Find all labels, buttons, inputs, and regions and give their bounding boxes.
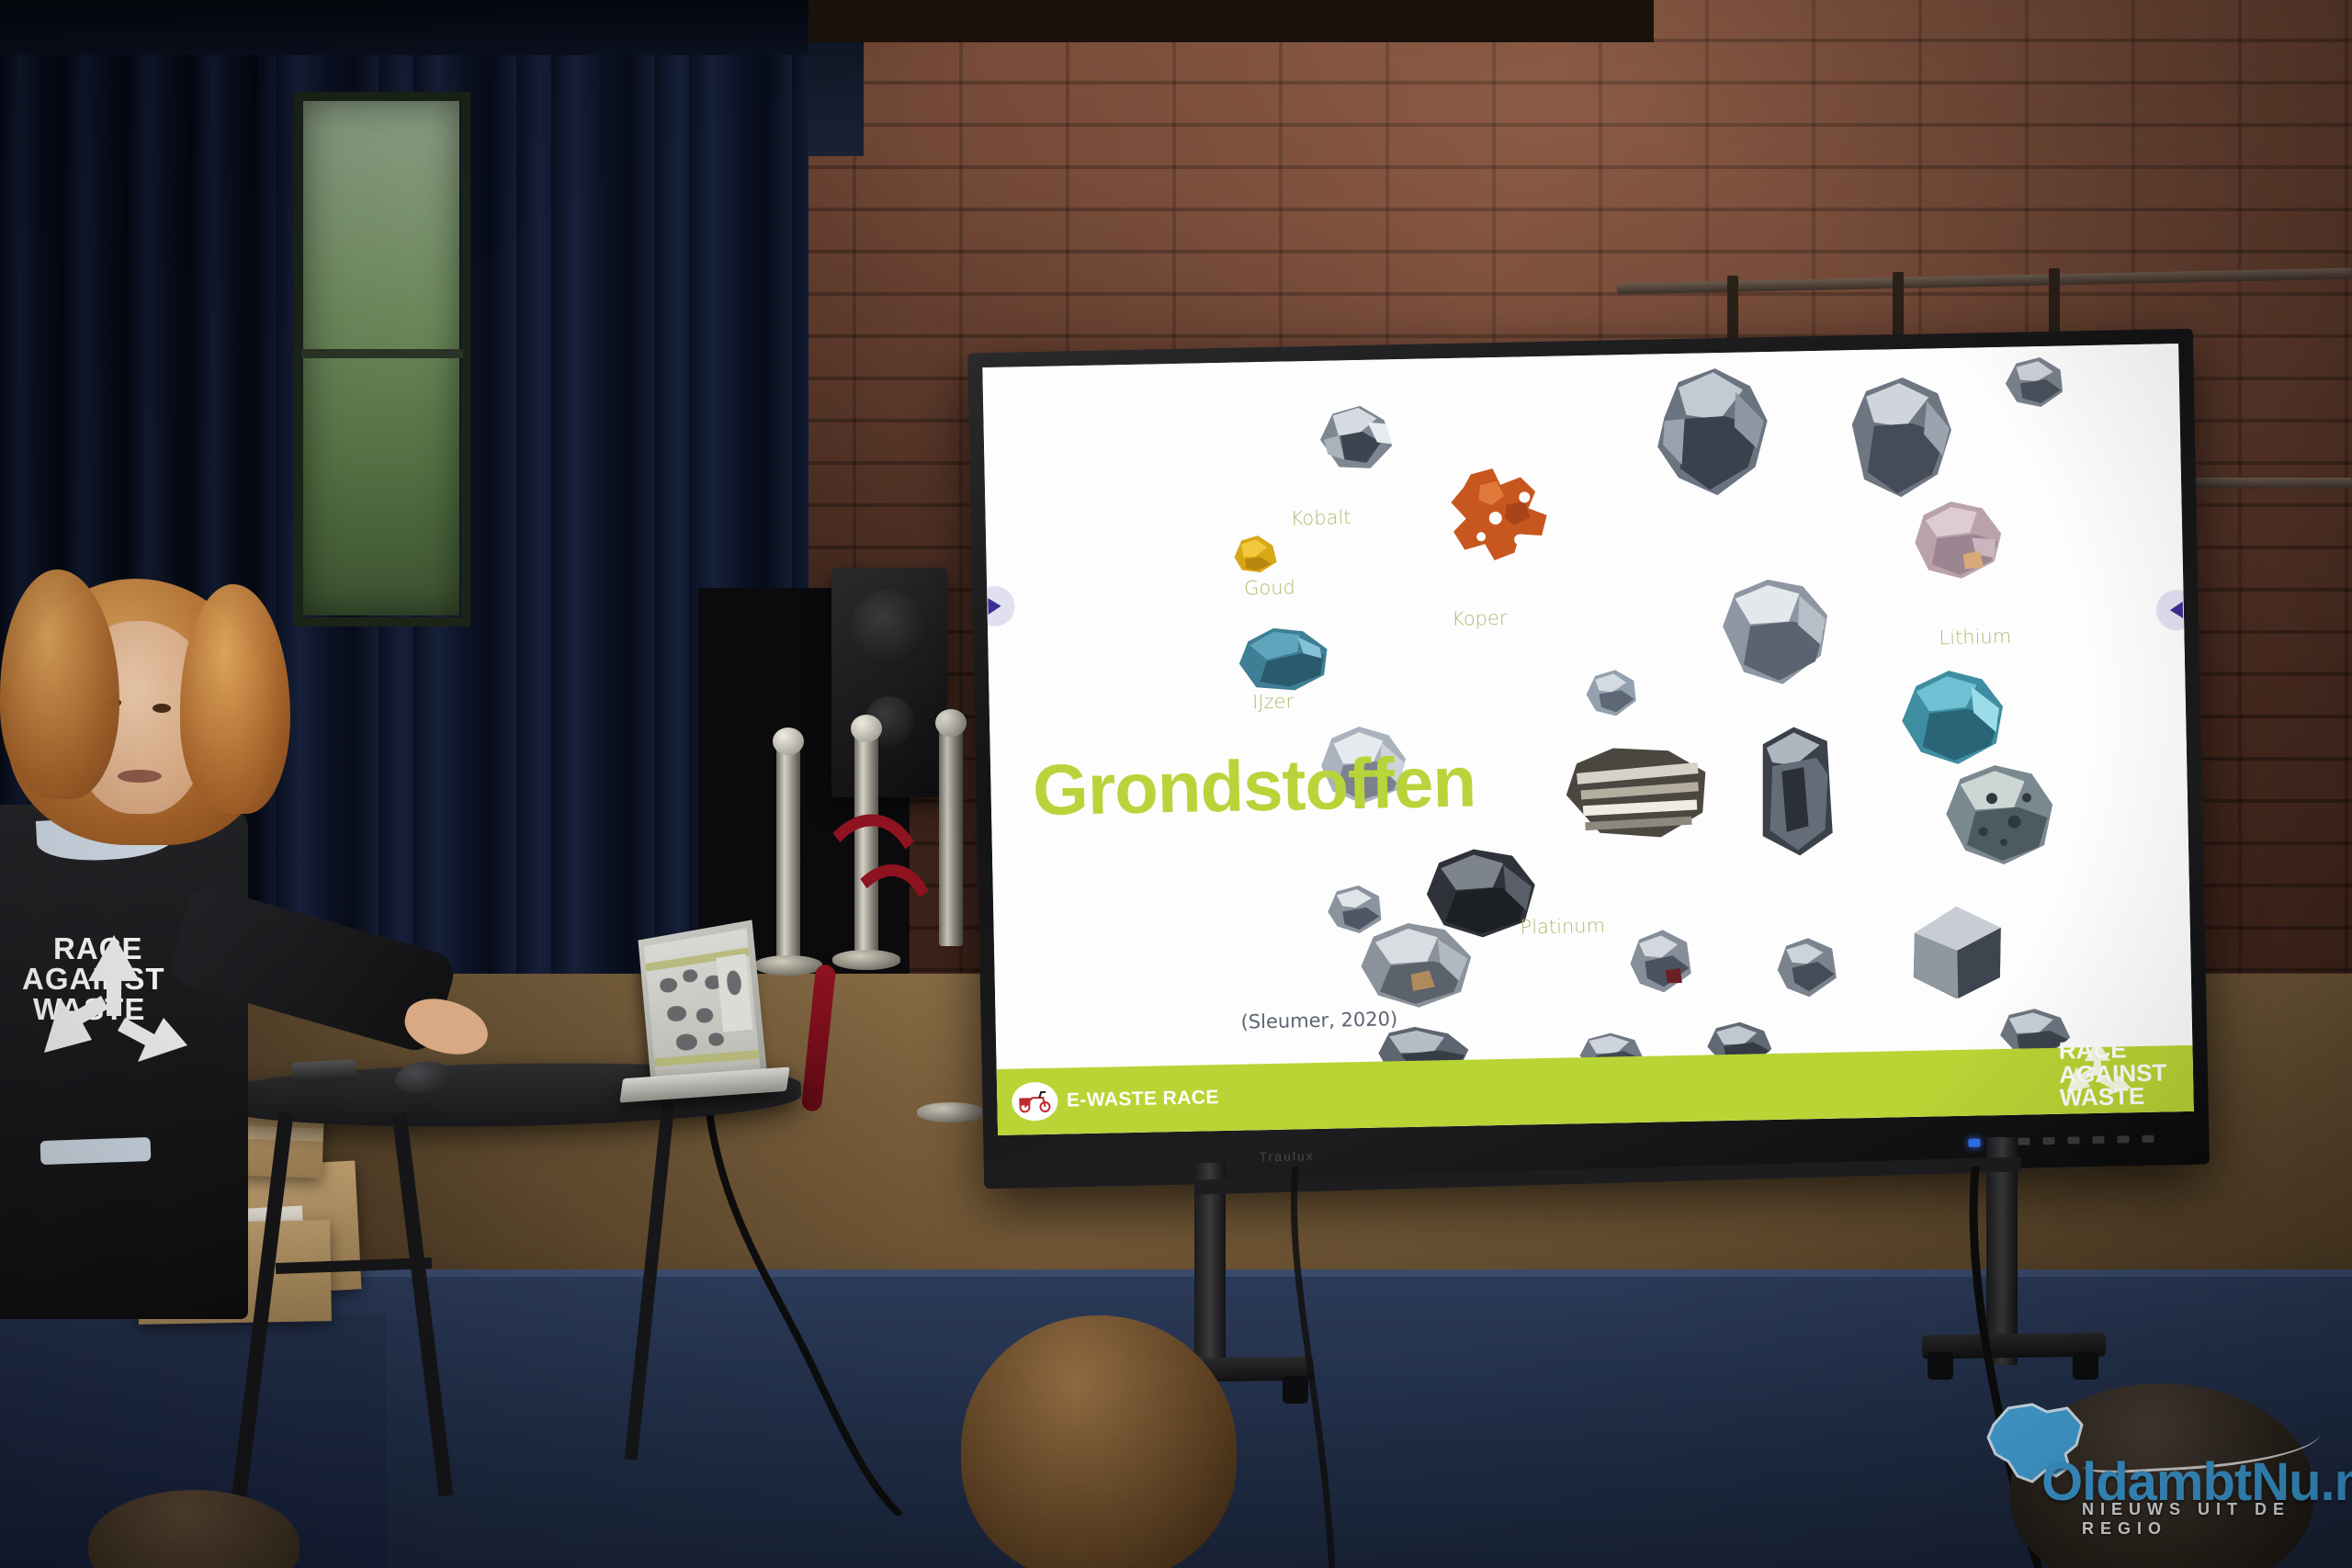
display-button-4[interactable]: [2067, 1136, 2079, 1144]
audience-head-center: [961, 1315, 1237, 1568]
mineral-layered-center: [1558, 740, 1716, 846]
presenter: RACE AGAINST WASTE: [0, 570, 570, 1568]
mineral-koper: [1439, 464, 1560, 581]
presenter-mouth: [118, 770, 162, 783]
laptop-mineral-thumb-1: [660, 976, 678, 993]
presentation-slide: Grondstoffen Kobalt Goud Koper IJzer Lit…: [982, 344, 2194, 1135]
display-button-2[interactable]: [2018, 1137, 2030, 1145]
display-button-5[interactable]: [2092, 1136, 2104, 1144]
mineral-teal-right: [1892, 666, 2011, 772]
speaker-cone-large: [851, 590, 928, 667]
photo-scene: Grondstoffen Kobalt Goud Koper IJzer Lit…: [0, 0, 2352, 1568]
mineral-platinum: [1352, 919, 1479, 1015]
shirt-line-1: RACE: [53, 933, 165, 964]
mineral-grey-top-right: [1838, 375, 1959, 506]
window-mullion: [301, 349, 463, 358]
laptop-mineral-thumb-4: [667, 1005, 687, 1022]
loudspeaker: [831, 568, 947, 797]
shirt-line-2: AGAINST: [22, 964, 165, 994]
slide-citation: (Sleumer, 2020): [1240, 1009, 1397, 1033]
mineral-label-lithium: Lithium: [1939, 625, 2011, 649]
presenter-laptop-lid[interactable]: [638, 919, 768, 1094]
laptop-mineral-thumb-5: [695, 1007, 714, 1023]
mineral-goud: [1228, 533, 1281, 576]
barrier-post-cap-2: [851, 715, 882, 742]
barrier-post-3: [939, 726, 963, 946]
laptop-mineral-thumb-6: [675, 1033, 697, 1052]
barrier-post-cap-3: [935, 709, 967, 737]
mineral-speckled-right: [1936, 761, 2061, 872]
mineral-kobalt: [1312, 401, 1398, 475]
laptop-mineral-thumb-2: [683, 968, 698, 983]
presenter-hair-side: [180, 584, 290, 814]
slide-next-button[interactable]: [2155, 589, 2193, 630]
mineral-dark-column: [1749, 723, 1840, 861]
display-button-6[interactable]: [2117, 1135, 2129, 1143]
shirt-line-3: WASTE: [33, 994, 165, 1024]
display-button-7[interactable]: [2142, 1135, 2154, 1143]
play-triangle-right-icon: [988, 598, 1001, 615]
watermark-tagline: NIEUWS UIT DE REGIO: [2082, 1500, 2330, 1539]
play-triangle-left-icon: [2170, 602, 2183, 618]
presenter-shirt-logo: RACE AGAINST WASTE: [20, 933, 165, 1024]
race-against-waste-logo: RACE AGAINST WASTE: [2059, 1038, 2168, 1111]
slide-prev-button[interactable]: [982, 586, 1015, 627]
laptop-slide-band-bottom: [654, 1050, 759, 1066]
mineral-label-platinum: Platinum: [1520, 914, 1605, 938]
presenter-eye-right: [153, 704, 171, 713]
display-button-3[interactable]: [2042, 1137, 2054, 1145]
presenter-hand: [400, 992, 494, 1063]
mineral-small-center: [1580, 665, 1642, 719]
mineral-cube-bottom-right: [1903, 900, 2011, 1005]
display-screen[interactable]: Grondstoffen Kobalt Goud Koper IJzer Lit…: [982, 344, 2194, 1135]
barrier-post-cap-1: [773, 728, 804, 755]
mineral-lithium: [1906, 497, 2007, 583]
mineral-label-koper: Koper: [1452, 606, 1508, 629]
mineral-grey-mid: [1711, 573, 1838, 692]
mineral-small-bottom-1: [1622, 925, 1699, 998]
mineral-label-ijzer: IJzer: [1252, 690, 1294, 713]
watermark: OldambtNu.nl NIEUWS UIT DE REGIO: [1981, 1416, 2330, 1553]
display-cables: [1268, 1167, 1911, 1568]
mineral-dark-crystal-top: [1646, 363, 1778, 503]
power-led-blue: [1968, 1138, 1980, 1146]
interactive-display[interactable]: Grondstoffen Kobalt Goud Koper IJzer Lit…: [967, 329, 2210, 1190]
mineral-label-goud: Goud: [1244, 576, 1295, 599]
presenter-shirt-collar-hem: [40, 1137, 152, 1165]
mineral-label-kobalt: Kobalt: [1290, 506, 1351, 529]
display-bezel: Grondstoffen Kobalt Goud Koper IJzer Lit…: [967, 329, 2210, 1190]
slide-title: Grondstoffen: [1032, 746, 1476, 827]
presenter-torso: [0, 805, 248, 1319]
laptop-screen[interactable]: [644, 929, 762, 1087]
window-frame: [294, 92, 470, 626]
mineral-small-top-right: [1999, 354, 2068, 412]
wall-rail-lower: [2187, 478, 2352, 489]
laptop-mineral-thumb-7: [708, 1032, 725, 1047]
barrier-post-1: [776, 744, 800, 964]
curtain-rail: [0, 0, 808, 55]
raw-line-3: WASTE: [2060, 1085, 2167, 1111]
mineral-ijzer: [1233, 618, 1338, 697]
mineral-small-bottom-2: [1771, 934, 1842, 1004]
